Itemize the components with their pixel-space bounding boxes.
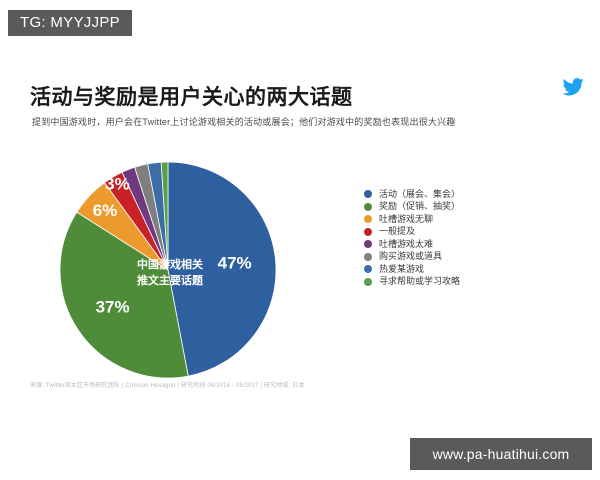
pie-slice-value-label: 47% [218,254,252,273]
pie-chart-svg: 47%37%6%3%中国游戏相关推文主要话题 [58,160,278,380]
legend-item[interactable]: 一般提及 [364,226,564,239]
pie-slice-value-label: 37% [96,298,130,317]
legend-item[interactable]: 吐槽游戏太难 [364,238,564,251]
legend-color-swatch [364,228,372,236]
legend-color-swatch [364,215,372,223]
legend-color-swatch [364,253,372,261]
legend-item-label: 寻求帮助或学习攻略 [379,277,460,286]
legend-item-label: 热爱某游戏 [379,265,424,274]
legend-color-swatch [364,265,372,273]
slide-card: 活动与奖励是用户关心的两大话题 提到中国游戏时，用户会在Twitter上讨论游戏… [0,56,600,426]
twitter-bird-icon [562,76,584,98]
legend-item[interactable]: 购买游戏或道具 [364,251,564,264]
chart-legend: 活动（展会、集会）奖励（促销、抽奖）吐槽游戏无聊一般提及吐槽游戏太难购买游戏或道… [364,188,564,288]
pie-center-label-line2: 推文主要话题 [137,273,204,287]
channel-tag-badge: TG: MYYJJPP [8,10,132,36]
legend-color-swatch [364,278,372,286]
pie-slice-value-label: 6% [93,201,118,220]
legend-item[interactable]: 活动（展会、集会） [364,188,564,201]
legend-item-label: 奖励（促销、抽奖） [379,202,460,211]
legend-color-swatch [364,203,372,211]
legend-item-label: 活动（展会、集会） [379,190,460,199]
page-subtitle: 提到中国游戏时，用户会在Twitter上讨论游戏相关的活动或展会；他们对游戏中的… [32,115,456,128]
legend-item[interactable]: 热爱某游戏 [364,263,564,276]
legend-item-label: 吐槽游戏无聊 [379,215,433,224]
site-watermark: www.pa-huatihui.com [410,438,592,470]
pie-slice-value-label: 3% [105,174,130,193]
legend-item[interactable]: 吐槽游戏无聊 [364,213,564,226]
slide-screenshot: TG: MYYJJPP 活动与奖励是用户关心的两大话题 提到中国游戏时，用户会在… [0,0,600,480]
legend-item-label: 购买游戏或道具 [379,252,442,261]
legend-color-swatch [364,240,372,248]
legend-item[interactable]: 寻求帮助或学习攻略 [364,276,564,289]
source-note: 来源: Twitter亚太区市场研究团队 | Crimson Hexagon |… [30,380,305,389]
legend-item-label: 一般提及 [379,227,415,236]
pie-chart: 47%37%6%3%中国游戏相关推文主要话题 [58,160,278,380]
legend-color-swatch [364,190,372,198]
legend-item[interactable]: 奖励（促销、抽奖） [364,201,564,214]
legend-item-label: 吐槽游戏太难 [379,240,433,249]
page-title: 活动与奖励是用户关心的两大话题 [30,81,353,111]
pie-center-label-line1: 中国游戏相关 [137,257,203,271]
